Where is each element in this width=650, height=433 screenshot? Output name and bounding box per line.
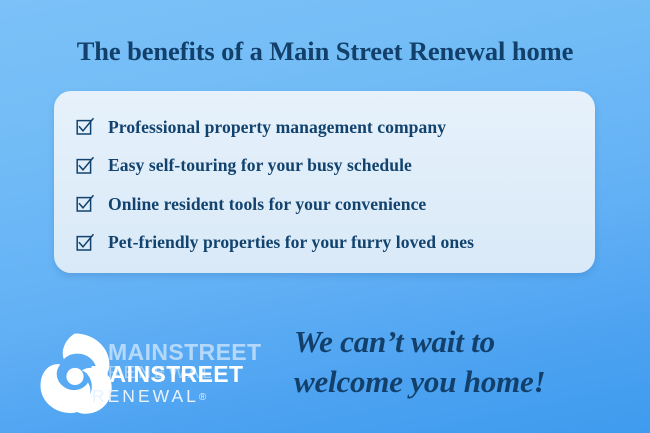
tagline-line-1: We can’t wait to	[294, 322, 640, 362]
tagline-line-2: welcome you home!	[294, 362, 640, 402]
list-item: Professional property management company	[76, 108, 585, 147]
benefits-list: Professional property management company…	[76, 108, 585, 262]
closing-tagline: We can’t wait to welcome you home!	[294, 322, 640, 402]
brand-logo: MAINSTREET RENEWAL MAINSTREET RENEWAL®	[30, 328, 280, 418]
logo-wordmark-main: MAINSTREET	[90, 361, 244, 388]
registered-mark-icon: ®	[199, 392, 206, 403]
benefit-label: Online resident tools for your convenien…	[108, 194, 426, 215]
logo-wordmark-sub: RENEWAL®	[92, 386, 206, 407]
page-title: The benefits of a Main Street Renewal ho…	[0, 36, 650, 67]
benefit-label: Easy self-touring for your busy schedule	[108, 155, 412, 176]
logo-wordmark-main-text: MAINSTREET	[90, 361, 244, 387]
checkbox-checked-icon	[76, 234, 94, 252]
checkbox-checked-icon	[76, 195, 94, 213]
benefit-label: Professional property management company	[108, 117, 446, 138]
list-item: Pet-friendly properties for your furry l…	[76, 224, 585, 263]
benefit-label: Pet-friendly properties for your furry l…	[108, 232, 474, 253]
benefits-card: Professional property management company…	[54, 91, 595, 273]
promo-poster: The benefits of a Main Street Renewal ho…	[0, 0, 650, 433]
list-item: Easy self-touring for your busy schedule	[76, 147, 585, 186]
list-item: Online resident tools for your convenien…	[76, 185, 585, 224]
logo-wordmark-sub-text: RENEWAL	[92, 386, 199, 406]
checkbox-checked-icon	[76, 157, 94, 175]
checkbox-checked-icon	[76, 118, 94, 136]
